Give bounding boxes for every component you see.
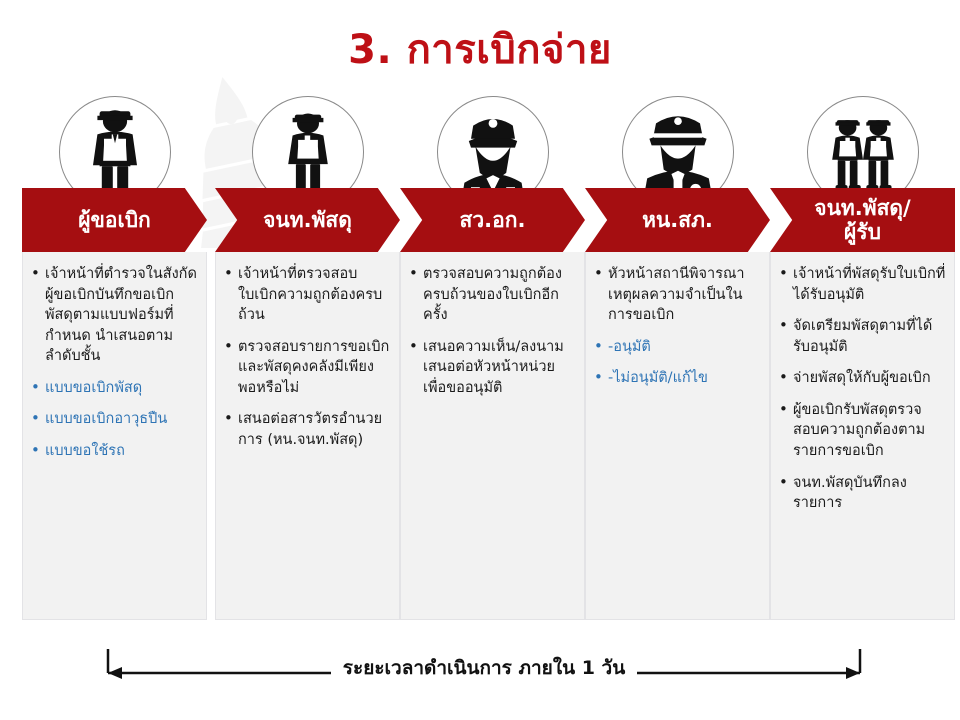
step-header-label-2: จนท.พัสดุ <box>215 188 400 252</box>
duration-label-wrapper: ระยะเวลาดำเนินการ ภายใน 1 วัน <box>100 653 868 683</box>
list-item: เจ้าหน้าที่พัสดุรับใบเบิกที่ได้รับอนุมัต… <box>777 264 946 305</box>
process-step-5: จนท.พัสดุ/ ผู้รับ เจ้าหน้าที่พัสดุรับใบเ… <box>770 96 955 626</box>
duration-label: ระยะเวลาดำเนินการ ภายใน 1 วัน <box>331 657 637 679</box>
list-item-link[interactable]: -ไม่อนุมัติ/แก้ไข <box>592 368 761 389</box>
step-body-1: เจ้าหน้าที่ตำรวจในสังกัดผู้ขอเบิกบันทึกข… <box>22 252 207 620</box>
step-header-1: ผู้ขอเบิก <box>22 188 207 252</box>
list-item: หัวหน้าสถานีพิจารณาเหตุผลความจำเป็นในการ… <box>592 264 761 326</box>
list-item: ผู้ขอเบิกรับพัสดุตรวจสอบความถูกต้องตามรา… <box>777 400 946 462</box>
list-item: จัดเตรียมพัสดุตามที่ได้รับอนุมัติ <box>777 316 946 357</box>
step-header-4: หน.สภ. <box>585 188 770 252</box>
process-step-3: สว.อก. ตรวจสอบความถูกต้องครบถ้วนของใบเบิ… <box>400 96 585 626</box>
step-body-5: เจ้าหน้าที่พัสดุรับใบเบิกที่ได้รับอนุมัต… <box>770 252 955 620</box>
duration-timeline: ระยะเวลาดำเนินการ ภายใน 1 วัน <box>100 645 868 695</box>
bullet-list-4: หัวหน้าสถานีพิจารณาเหตุผลความจำเป็นในการ… <box>592 264 761 389</box>
list-item: ตรวจสอบความถูกต้องครบถ้วนของใบเบิกอีกครั… <box>407 264 576 326</box>
page-title: 3. การเบิกจ่าย <box>0 28 960 72</box>
step-body-4: หัวหน้าสถานีพิจารณาเหตุผลความจำเป็นในการ… <box>585 252 770 620</box>
step-header-5: จนท.พัสดุ/ ผู้รับ <box>770 188 955 252</box>
list-item: เสนอต่อสารวัตรอำนวยการ (หน.จนท.พัสดุ) <box>222 409 391 450</box>
list-item: เจ้าหน้าที่ตรวจสอบใบเบิกความถูกต้องครบถ้… <box>222 264 391 326</box>
bullet-list-1: เจ้าหน้าที่ตำรวจในสังกัดผู้ขอเบิกบันทึกข… <box>29 264 198 462</box>
step-header-label-5: จนท.พัสดุ/ ผู้รับ <box>770 188 955 252</box>
process-step-2: จนท.พัสดุ เจ้าหน้าที่ตรวจสอบใบเบิกความถู… <box>215 96 400 626</box>
step-header-label-4: หน.สภ. <box>585 188 770 252</box>
list-item-link[interactable]: แบบขอใช้รถ <box>29 441 198 462</box>
bullet-list-5: เจ้าหน้าที่พัสดุรับใบเบิกที่ได้รับอนุมัต… <box>777 264 946 514</box>
step-body-2: เจ้าหน้าที่ตรวจสอบใบเบิกความถูกต้องครบถ้… <box>215 252 400 620</box>
step-header-label-3: สว.อก. <box>400 188 585 252</box>
list-item: จนท.พัสดุบันทึกลงรายการ <box>777 473 946 514</box>
list-item: เสนอความเห็น/ลงนามเสนอต่อหัวหน้าหน่วย เพ… <box>407 337 576 399</box>
step-body-3: ตรวจสอบความถูกต้องครบถ้วนของใบเบิกอีกครั… <box>400 252 585 620</box>
bullet-list-3: ตรวจสอบความถูกต้องครบถ้วนของใบเบิกอีกครั… <box>407 264 576 398</box>
list-item-link[interactable]: แบบขอเบิกพัสดุ <box>29 378 198 399</box>
list-item-link[interactable]: แบบขอเบิกอาวุธปืน <box>29 409 198 430</box>
list-item: จ่ายพัสดุให้กับผู้ขอเบิก <box>777 368 946 389</box>
list-item-link[interactable]: -อนุมัติ <box>592 337 761 358</box>
step-header-label-1: ผู้ขอเบิก <box>22 188 207 252</box>
bullet-list-2: เจ้าหน้าที่ตรวจสอบใบเบิกความถูกต้องครบถ้… <box>222 264 391 451</box>
process-step-4: หน.สภ. หัวหน้าสถานีพิจารณาเหตุผลความจำเป… <box>585 96 770 626</box>
step-header-3: สว.อก. <box>400 188 585 252</box>
step-header-2: จนท.พัสดุ <box>215 188 400 252</box>
list-item: เจ้าหน้าที่ตำรวจในสังกัดผู้ขอเบิกบันทึกข… <box>29 264 198 367</box>
list-item: ตรวจสอบรายการขอเบิก และพัสดุคงคลังมีเพีย… <box>222 337 391 399</box>
process-step-1: ผู้ขอเบิก เจ้าหน้าที่ตำรวจในสังกัดผู้ขอเ… <box>22 96 207 626</box>
